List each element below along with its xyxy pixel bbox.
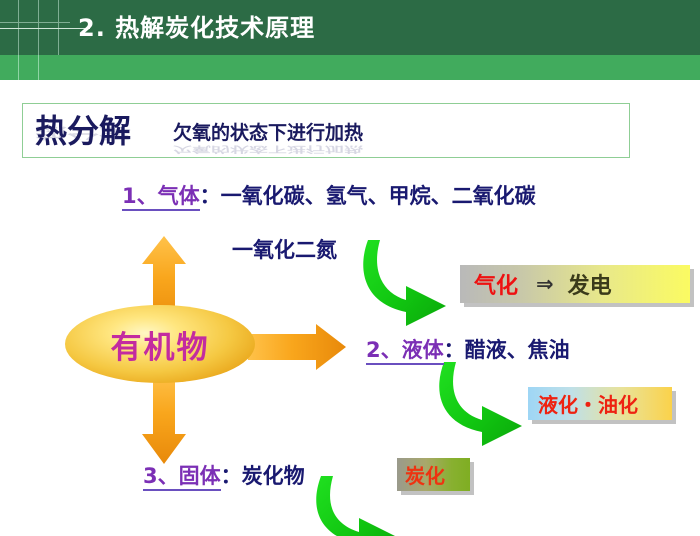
branch-row-solid: 3、固体：炭化物 bbox=[143, 460, 305, 490]
banner-heading-reflection: 热分解 bbox=[35, 123, 131, 144]
curved-arrow-icon-gas bbox=[363, 240, 446, 326]
curved-arrow-icon-liquid bbox=[439, 362, 522, 446]
banner-subtitle: 欠氧的状态下进行加热 bbox=[173, 118, 363, 145]
header-accent-band bbox=[0, 55, 700, 80]
gas-note-n2o: 一氧化二氮 bbox=[232, 234, 337, 264]
carbonization-label: 炭化 bbox=[405, 460, 445, 489]
accent-grid-line-v1 bbox=[18, 55, 19, 80]
branch-row-liquid: 2、液体：醋液、焦油 bbox=[366, 334, 570, 364]
page-title: 2. 热解炭化技术原理 bbox=[78, 8, 315, 43]
branch-label-solid: 3、固体 bbox=[143, 464, 221, 491]
implies-arrow-icon: ⇒ bbox=[536, 272, 554, 296]
banner-subtitle-reflection: 欠氧的状态下进行加热 bbox=[173, 144, 363, 156]
slide-canvas: 2. 热解炭化技术原理 热分解 欠氧的状态下进行加热 热分解 欠氧的状态下进行加… bbox=[0, 0, 700, 536]
header-underline-rule bbox=[0, 28, 90, 29]
gasification-label: 气化 bbox=[474, 268, 518, 300]
carbonization-chip: 炭化 bbox=[397, 458, 470, 491]
branch-label-gas: 1、气体 bbox=[122, 184, 200, 211]
curved-arrow-icon-solid bbox=[316, 476, 399, 536]
branch-body-liquid: ：醋液、焦油 bbox=[444, 338, 570, 362]
liquefaction-chip: 液化・油化 bbox=[528, 387, 672, 420]
branch-body-solid: ：炭化物 bbox=[221, 464, 305, 488]
branch-label-liquid: 2、液体 bbox=[366, 338, 444, 365]
branch-row-gas: 1、气体：一氧化碳、氢气、甲烷、二氧化碳 bbox=[122, 180, 536, 210]
arrow-down-icon bbox=[142, 372, 186, 464]
center-node-label: 有机物 bbox=[65, 305, 255, 383]
liquefaction-label: 液化・油化 bbox=[538, 389, 638, 418]
arrow-right-icon bbox=[248, 324, 346, 370]
header-grid-line-h1 bbox=[0, 22, 70, 23]
pyrolysis-banner: 热分解 欠氧的状态下进行加热 热分解 欠氧的状态下进行加热 bbox=[22, 103, 630, 158]
gasification-result: 发电 bbox=[568, 268, 612, 300]
branch-body-gas: ：一氧化碳、氢气、甲烷、二氧化碳 bbox=[200, 184, 536, 208]
accent-grid-line-v2 bbox=[38, 55, 39, 80]
gasification-chip: 气化 ⇒ 发电 bbox=[460, 265, 690, 303]
center-node-organic-matter: 有机物 bbox=[65, 305, 255, 383]
